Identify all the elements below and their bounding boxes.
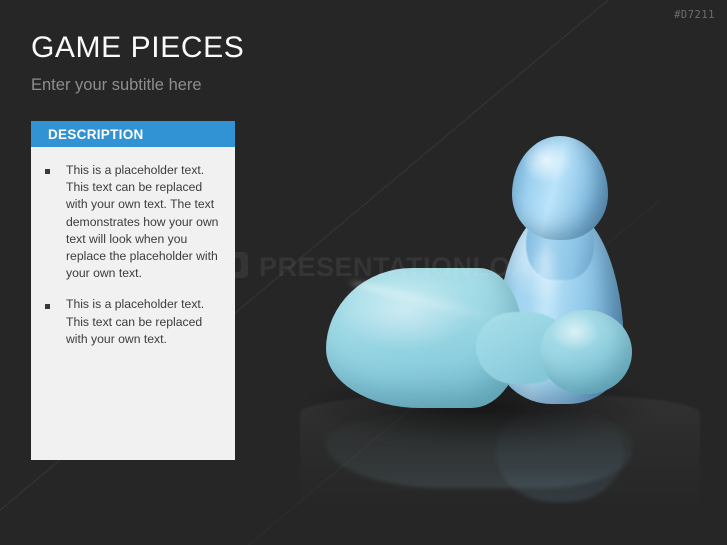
description-header-label: DESCRIPTION xyxy=(48,127,144,142)
description-body: This is a placeholder text. This text ca… xyxy=(31,147,235,348)
list-item[interactable]: This is a placeholder text. This text ca… xyxy=(45,296,225,348)
list-item[interactable]: This is a placeholder text. This text ca… xyxy=(45,162,225,282)
description-header: DESCRIPTION xyxy=(31,121,235,147)
lying-game-piece xyxy=(326,268,632,408)
game-pieces-image xyxy=(300,120,700,520)
bullet-square-icon xyxy=(45,162,58,282)
list-item-text: This is a placeholder text. This text ca… xyxy=(58,162,225,282)
list-item-text: This is a placeholder text. This text ca… xyxy=(58,296,225,348)
lying-piece-head xyxy=(540,310,632,394)
slide-canvas: #D7211 GAME PIECES Enter your subtitle h… xyxy=(0,0,727,545)
description-panel: DESCRIPTION This is a placeholder text. … xyxy=(31,121,235,460)
page-subtitle[interactable]: Enter your subtitle here xyxy=(31,76,202,95)
bullet-square-icon xyxy=(45,296,58,348)
page-title: GAME PIECES xyxy=(31,31,244,65)
standing-piece-head xyxy=(512,136,608,240)
document-id-label: #D7211 xyxy=(674,9,715,21)
